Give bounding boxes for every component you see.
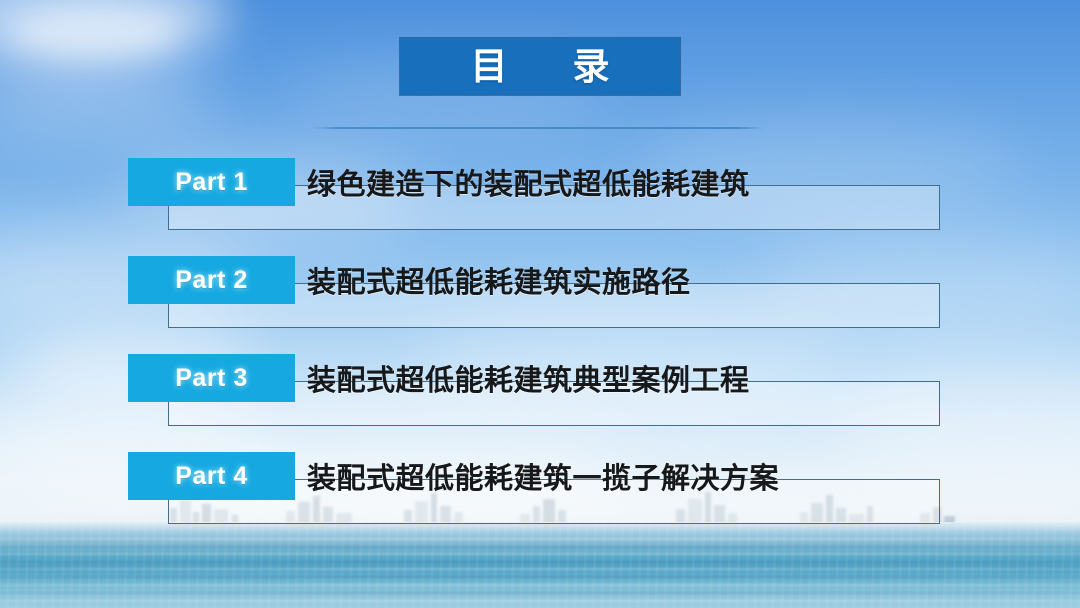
- presentation-slide: 目 录 Part 1 绿色建造下的装配式超低能耗建筑 Part 2 装配式超低能…: [0, 0, 1080, 608]
- contents-list: Part 1 绿色建造下的装配式超低能耗建筑 Part 2 装配式超低能耗建筑实…: [0, 0, 1080, 608]
- list-item[interactable]: Part 2 装配式超低能耗建筑实施路径: [0, 256, 1080, 356]
- part-badge-label: Part 3: [175, 366, 247, 391]
- part-badge-label: Part 4: [175, 464, 247, 489]
- part-badge[interactable]: Part 1: [128, 158, 295, 206]
- list-item[interactable]: Part 1 绿色建造下的装配式超低能耗建筑: [0, 158, 1080, 258]
- part-badge-label: Part 1: [175, 170, 247, 195]
- part-badge[interactable]: Part 3: [128, 354, 295, 402]
- part-badge[interactable]: Part 4: [128, 452, 295, 500]
- list-item[interactable]: Part 3 装配式超低能耗建筑典型案例工程: [0, 354, 1080, 454]
- contents-row-title: 装配式超低能耗建筑一揽子解决方案: [307, 452, 779, 500]
- list-item[interactable]: Part 4 装配式超低能耗建筑一揽子解决方案: [0, 452, 1080, 552]
- contents-row-title: 装配式超低能耗建筑实施路径: [307, 256, 691, 304]
- part-badge-label: Part 2: [175, 268, 247, 293]
- contents-row-title: 绿色建造下的装配式超低能耗建筑: [307, 158, 750, 206]
- contents-row-title: 装配式超低能耗建筑典型案例工程: [307, 354, 750, 402]
- part-badge[interactable]: Part 2: [128, 256, 295, 304]
